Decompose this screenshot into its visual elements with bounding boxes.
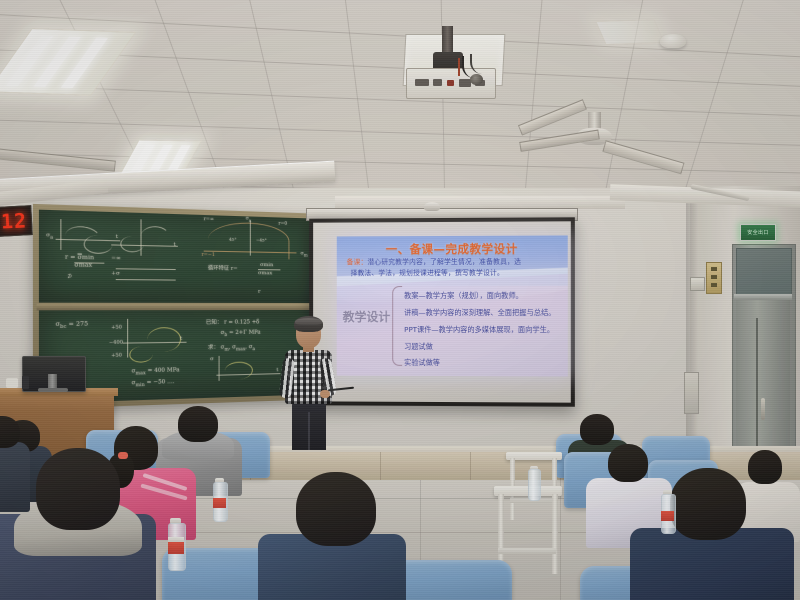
ceiling-light-panel-3 [595, 19, 665, 45]
camera-icon [424, 202, 440, 211]
fan-blade-far [0, 148, 116, 172]
fan-blade-3 [519, 130, 600, 152]
slide-subtitle-text-1: 潜心研究教学内容，了解学生情况，准备教具，选 [367, 258, 521, 266]
blackboard-upper-panel: σa t r = σmin σmax ⊅ =∞ t +σ r=∞ σa r=0 … [39, 210, 322, 303]
slide-bullet-3: PPT课件—教学内容的多媒体展现，面向学生。 [404, 325, 554, 335]
smoke-detector-icon [660, 34, 686, 48]
slide-title: 一、备课—完成教学设计 [337, 240, 568, 257]
lecturer [278, 318, 340, 448]
slide-subtitle-lead: 备课： [347, 258, 368, 266]
slide-bullet-4: 习题试做 [404, 342, 433, 352]
slide-section-label: 教学设计 [343, 308, 391, 325]
wall-switch-plate[interactable] [690, 277, 705, 291]
slide-subtitle-line-1: 备课：潜心研究教学内容，了解学生情况，准备教具，选 [347, 258, 522, 267]
ceiling-light-panel [0, 28, 136, 96]
slide-bullet-1: 教案—教学方案（规划），面向教师。 [404, 291, 523, 301]
monitor-base [38, 388, 68, 392]
desk-rail [498, 548, 556, 554]
led-clock-digits: 12 [0, 208, 27, 233]
slide-brace-decoration [392, 286, 402, 366]
desk-item-device [22, 376, 29, 389]
slide-bullet-2: 讲稿—教学内容的深刻理解、全面把握与总结。 [404, 308, 555, 318]
projected-slide: 一、备课—完成教学设计 备课：潜心研究教学内容，了解学生情况，准备教具，选 择教… [337, 235, 568, 376]
wall-control-box[interactable] [706, 262, 722, 294]
led-wall-clock: 12 [0, 205, 33, 237]
desk-item-cup [6, 378, 18, 388]
door-handle[interactable] [761, 398, 765, 420]
lecturer-hair-highlight [295, 318, 322, 325]
screen-surface: 一、备课—完成教学设计 备课：潜心研究教学内容，了解学生情况，准备教具，选 择教… [313, 221, 571, 402]
lecture-hall-photo: 12 σa t r = σmin σmax ⊅ =∞ t +σ [0, 0, 800, 600]
slide-subtitle-line-2: 择教法、学法，规划授课进程等，撰写教学设计。 [351, 269, 504, 278]
projection-screen: 一、备课—完成教学设计 备课：潜心研究教学内容，了解学生情况，准备教具，选 择教… [309, 217, 575, 406]
exit-sign: 安全出口 [740, 224, 776, 241]
wall-corner-shadow [686, 190, 698, 470]
exit-sign-label: 安全出口 [747, 229, 769, 236]
door-transom-window [736, 248, 792, 296]
hair-tie [118, 452, 128, 459]
slide-bullet-5: 实验试做等 [404, 358, 440, 368]
wall-access-panel [684, 372, 699, 414]
desk-leg [552, 494, 558, 574]
projector-cable-red [458, 58, 460, 76]
door-panel-line [756, 318, 758, 458]
lecturer-trouser-seam [308, 412, 310, 450]
